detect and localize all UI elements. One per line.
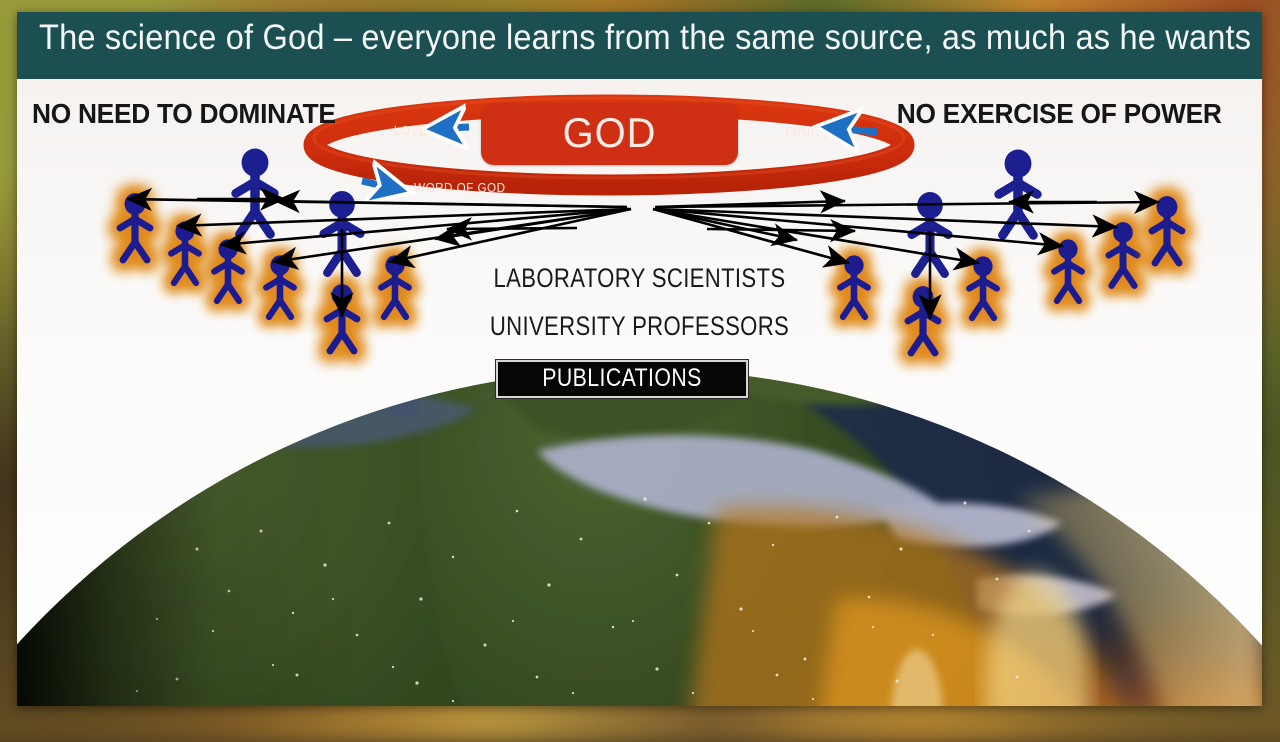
slide-title-bar: The science of God – everyone learns fro… [17,12,1262,79]
slide-title: The science of God – everyone learns fro… [39,18,1251,58]
no-need-to-dominate-heading: NO NEED TO DOMINATE [32,98,336,130]
slide-card: The science of God – everyone learns fro… [17,12,1262,706]
person-icon [1109,222,1138,286]
person-icon [236,149,274,235]
person-icon [1054,239,1082,301]
person-icon [266,255,294,317]
person-icon [171,221,199,283]
person-icon [999,150,1037,236]
person-icon [324,191,361,273]
person-icon [214,239,242,301]
person-icon [327,284,357,351]
stick-figure-group [17,79,1262,706]
person-icon [969,256,997,318]
person-icon [840,255,868,317]
slide-body: LABORATORY SCIENTISTS UNIVERSITY PROFESS… [17,79,1262,706]
person-icon [120,193,150,260]
no-exercise-of-power-heading: NO EXERCISE OF POWER [897,98,1222,130]
left-people-group [120,149,409,351]
right-people-group [840,150,1182,353]
person-icon [381,255,409,317]
person-icon [912,192,949,274]
person-icon [1152,196,1182,263]
person-icon [908,286,938,353]
